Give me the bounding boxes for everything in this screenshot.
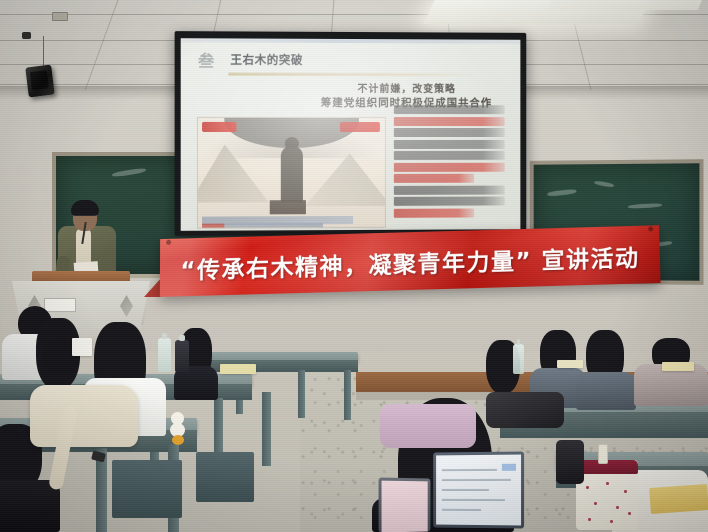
presentation-slide: 叁 王右木的突破 不计前嫌，改变策略 筹建党组织同时积极促成国共合作 xyxy=(181,38,521,231)
desk-bag xyxy=(486,392,564,428)
backpack xyxy=(30,385,138,447)
tablet-screen xyxy=(382,481,428,532)
paper-sheet xyxy=(557,360,583,368)
desk-leg xyxy=(344,370,351,420)
photo-statue xyxy=(281,146,303,202)
slide-text-line-highlight xyxy=(394,117,505,126)
ceiling-vent xyxy=(52,12,68,21)
slide-text-line xyxy=(394,128,505,137)
slide-photo xyxy=(197,117,386,229)
slide-text-line xyxy=(394,105,505,114)
slide-text-line xyxy=(394,151,505,160)
tablet[interactable] xyxy=(379,477,431,532)
podium-label-plate xyxy=(44,298,76,312)
presenter-hair xyxy=(71,200,99,216)
slide-title-rule xyxy=(228,73,478,77)
broadcast-logo-right xyxy=(340,122,380,132)
textbook xyxy=(649,484,708,514)
yellow-notepad-2 xyxy=(662,362,694,371)
ceiling-speaker-icon xyxy=(25,65,54,98)
seat xyxy=(112,460,182,518)
seat xyxy=(196,452,254,502)
desk-leg xyxy=(262,392,271,466)
ceiling-light-fixture-2 xyxy=(548,0,706,10)
slide-title: 王右木的突破 xyxy=(230,51,303,67)
laptop-screen xyxy=(436,455,521,526)
tumbler-straw xyxy=(598,444,608,464)
slide-text-line xyxy=(394,139,505,148)
projection-screen: 叁 王右木的突破 不计前嫌，改变策略 筹建党组织同时积极促成国共合作 xyxy=(175,31,527,236)
photo-caption-text-bar xyxy=(202,223,323,229)
travel-tumbler xyxy=(576,460,638,530)
slide-text-line xyxy=(394,185,505,194)
black-tumbler xyxy=(556,440,584,484)
laptop[interactable] xyxy=(433,451,524,528)
slide-text-line-highlight xyxy=(394,174,474,183)
water-bottle xyxy=(158,338,171,372)
water-bottle-dark xyxy=(175,340,189,372)
desk-leg xyxy=(298,370,305,418)
slide-body-text xyxy=(394,105,505,220)
charm-feet xyxy=(172,435,184,445)
handout-paper xyxy=(72,338,92,356)
slide-text-line-highlight xyxy=(394,208,474,217)
speaker-wire xyxy=(43,36,44,68)
water-bottle-right xyxy=(513,344,524,374)
slide-text-line-highlight xyxy=(394,162,505,171)
slide-top-accent xyxy=(181,38,521,44)
event-banner-text: “传承右木精神，凝聚青年力量” 宣讲活动 xyxy=(180,239,640,286)
yellow-notepad xyxy=(220,364,256,374)
plush-charm xyxy=(168,412,188,448)
slide-subtitle-line1: 不计前嫌，改变策略 xyxy=(302,80,511,95)
presenter-glasses-icon xyxy=(74,215,95,220)
broadcast-logo-left xyxy=(202,122,236,132)
photo-mountain-right xyxy=(305,150,386,206)
lecture-hall-photo: 叁 王右木的突破 不计前嫌，改变策略 筹建党组织同时积极促成国共合作 xyxy=(0,0,708,532)
wall-camera-icon xyxy=(22,32,31,39)
photo-statue-plinth xyxy=(269,200,305,214)
slide-text-line xyxy=(394,197,505,206)
slide-number-glyph: 叁 xyxy=(198,51,222,73)
